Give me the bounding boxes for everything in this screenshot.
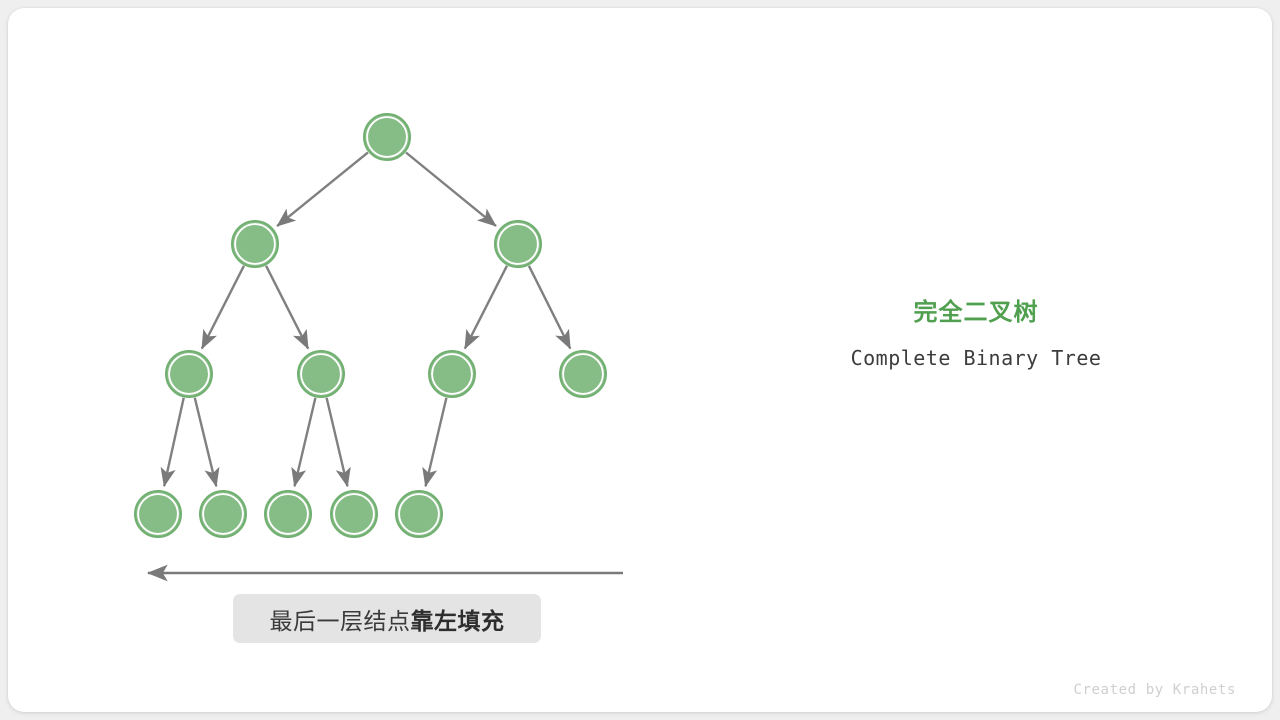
tree-edge [277, 152, 368, 226]
tree-node [298, 351, 344, 397]
caption-text: 最后一层结点靠左填充 [270, 602, 505, 636]
tree-node-body [335, 495, 372, 532]
tree-node-body [302, 355, 339, 392]
tree-edge [195, 398, 216, 487]
tree-node-body [170, 355, 207, 392]
footer-credit: Created by Krahets [876, 682, 1236, 698]
tree-node-body [236, 225, 273, 262]
legend-title-block: 完全二叉树 Complete Binary Tree [776, 298, 1176, 371]
tree-edge [426, 398, 447, 486]
tree-edge [465, 266, 507, 349]
tree-edge [266, 266, 308, 349]
tree-edge [529, 266, 570, 349]
tree-node [396, 491, 442, 537]
tree-edge [406, 153, 496, 226]
caption-text-normal: 最后一层结点 [270, 608, 411, 634]
legend-title-cn: 完全二叉树 [776, 298, 1176, 328]
tree-node-body [204, 495, 241, 532]
tree-node [331, 491, 377, 537]
tree-node-body [400, 495, 437, 532]
tree-node-body [139, 495, 176, 532]
tree-edge [327, 398, 348, 486]
tree-node-body [499, 225, 536, 262]
tree-node-layer [135, 114, 606, 537]
tree-node-body [368, 118, 405, 155]
tree-node [200, 491, 246, 537]
tree-node [135, 491, 181, 537]
tree-edge [202, 266, 244, 349]
tree-node-body [564, 355, 601, 392]
caption-text-bold: 靠左填充 [411, 608, 505, 634]
tree-node [429, 351, 475, 397]
tree-node-body [269, 495, 306, 532]
tree-edge [164, 398, 184, 486]
caption-box: 最后一层结点靠左填充 [233, 594, 541, 643]
tree-edge-layer [164, 152, 570, 486]
diagram-card: 完全二叉树 Complete Binary Tree 最后一层结点靠左填充 Cr… [8, 8, 1272, 712]
tree-node [265, 491, 311, 537]
tree-node-body [433, 355, 470, 392]
tree-node [166, 351, 212, 397]
tree-node [364, 114, 410, 160]
tree-node [232, 221, 278, 267]
tree-node [495, 221, 541, 267]
tree-edge [295, 398, 316, 486]
legend-title-en: Complete Binary Tree [776, 345, 1176, 371]
tree-node [560, 351, 606, 397]
diagram-stage: 完全二叉树 Complete Binary Tree 最后一层结点靠左填充 Cr… [8, 8, 1272, 712]
